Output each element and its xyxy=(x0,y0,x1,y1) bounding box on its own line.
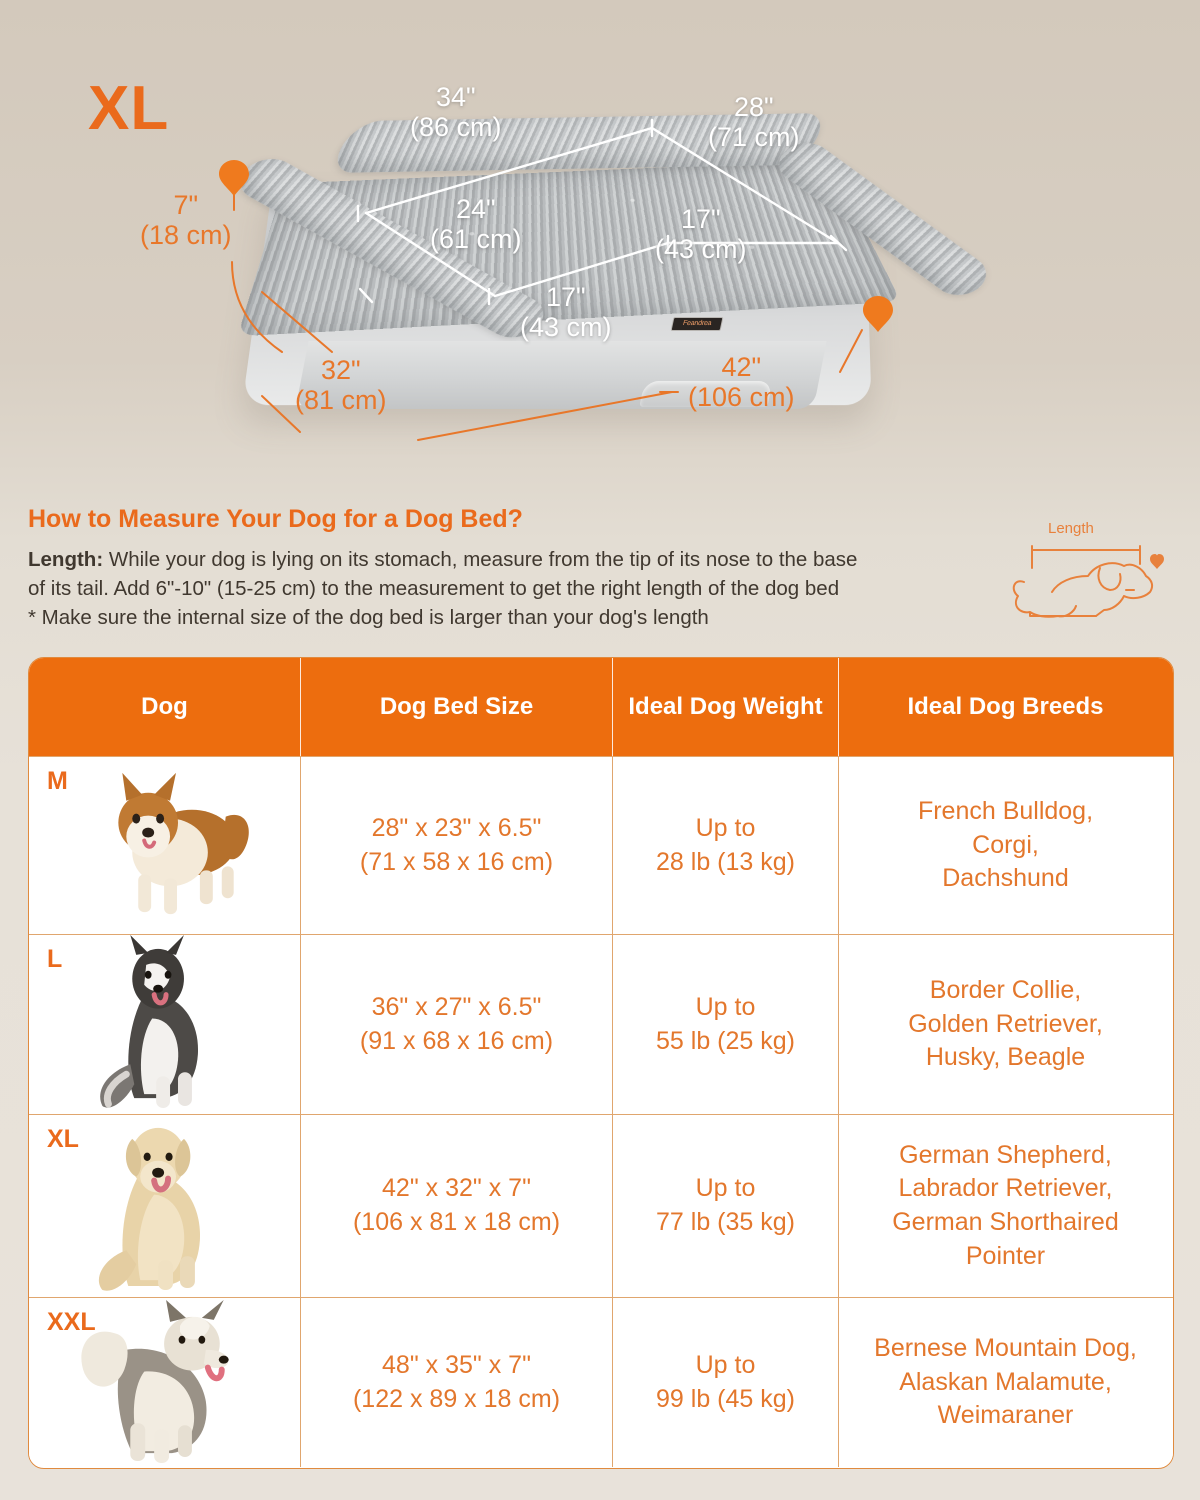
measure-heading: How to Measure Your Dog for a Dog Bed? xyxy=(28,505,978,534)
weight-line-1: Up to xyxy=(656,991,795,1025)
bed-size-cm: (122 x 89 x 18 cm) xyxy=(353,1383,560,1417)
table-header-weight: Ideal Dog Weight xyxy=(613,658,839,756)
table-row: XXL xyxy=(29,1297,1173,1467)
table-cell-weight: Up to 99 lb (45 kg) xyxy=(613,1298,839,1467)
bed-size-inches: 28" x 23" x 6.5" xyxy=(360,812,553,846)
dim-inner-depth: 17" (43 cm) xyxy=(655,204,747,264)
measure-section: How to Measure Your Dog for a Dog Bed? L… xyxy=(28,505,978,632)
breeds-text: German Shepherd, Labrador Retriever, Ger… xyxy=(886,1139,1125,1274)
hero-product-diagram: XL Feandrea xyxy=(0,0,1200,485)
table-cell-weight: Up to 77 lb (35 kg) xyxy=(613,1115,839,1297)
dim-height: 7" (18 cm) xyxy=(140,190,232,250)
weight-line-2: 28 lb (13 kg) xyxy=(656,846,795,880)
table-header-dog: Dog xyxy=(29,658,301,756)
bed-size-cm: (106 x 81 x 18 cm) xyxy=(353,1206,560,1240)
size-badge: XL xyxy=(88,78,169,140)
table-row: L xyxy=(29,934,1173,1114)
bed-size-inches: 36" x 27" x 6.5" xyxy=(360,991,553,1025)
malamute-photo xyxy=(74,1298,284,1467)
dim-inner-width: 24" (61 cm) xyxy=(430,194,522,254)
table-cell-dog: M xyxy=(29,757,301,934)
measure-length-label: Length: xyxy=(28,548,103,571)
table-cell-breeds: French Bulldog, Corgi, Dachshund xyxy=(839,757,1172,934)
table-row: XL xyxy=(29,1114,1173,1297)
table-header-size: Dog Bed Size xyxy=(301,658,613,756)
table-cell-bed-size: 42" x 32" x 7" (106 x 81 x 18 cm) xyxy=(301,1115,613,1297)
table-cell-breeds: Border Collie, Golden Retriever, Husky, … xyxy=(839,935,1172,1114)
dog-length-caption: Length xyxy=(1048,520,1094,537)
border-collie-photo xyxy=(74,935,284,1114)
table-cell-breeds: Bernese Mountain Dog, Alaskan Malamute, … xyxy=(839,1298,1172,1467)
size-chart-table: Dog Dog Bed Size Ideal Dog Weight Ideal … xyxy=(28,657,1174,1469)
dim-top-depth: 28" (71 cm) xyxy=(708,92,800,152)
heart-icon xyxy=(1150,554,1164,569)
table-cell-bed-size: 36" x 27" x 6.5" (91 x 68 x 16 cm) xyxy=(301,935,613,1114)
table-header-row: Dog Dog Bed Size Ideal Dog Weight Ideal … xyxy=(29,658,1173,756)
measure-line-1: While your dog is lying on its stomach, … xyxy=(103,548,857,571)
measure-paragraph: Length: While your dog is lying on its s… xyxy=(28,545,978,632)
labrador-photo xyxy=(74,1115,284,1297)
breeds-text: Bernese Mountain Dog, Alaskan Malamute, … xyxy=(868,1332,1143,1433)
table-cell-breeds: German Shepherd, Labrador Retriever, Ger… xyxy=(839,1115,1172,1297)
weight-line-2: 77 lb (35 kg) xyxy=(656,1206,795,1240)
row-size-label: M xyxy=(47,767,68,796)
table-cell-dog: L xyxy=(29,935,301,1114)
row-size-label: L xyxy=(47,945,62,974)
table-cell-dog: XXL xyxy=(29,1298,301,1467)
measure-line-3: * Make sure the internal size of the dog… xyxy=(28,606,709,629)
lying-dog-icon xyxy=(1000,520,1170,635)
brand-tag: Feandrea xyxy=(671,317,724,331)
dog-length-diagram-icon: Length xyxy=(1000,520,1170,635)
weight-line-2: 55 lb (25 kg) xyxy=(656,1025,795,1059)
table-header-breeds: Ideal Dog Breeds xyxy=(839,658,1172,756)
weight-line-1: Up to xyxy=(656,812,795,846)
breeds-text: Border Collie, Golden Retriever, Husky, … xyxy=(902,974,1109,1075)
measure-line-2: of its tail. Add 6"-10" (15-25 cm) to th… xyxy=(28,577,839,600)
bed-size-inches: 48" x 35" x 7" xyxy=(353,1349,560,1383)
table-cell-bed-size: 48" x 35" x 7" (122 x 89 x 18 cm) xyxy=(301,1298,613,1467)
table-cell-bed-size: 28" x 23" x 6.5" (71 x 58 x 16 cm) xyxy=(301,757,613,934)
dim-inner-front: 17" (43 cm) xyxy=(520,282,612,342)
weight-line-1: Up to xyxy=(656,1349,795,1383)
weight-line-2: 99 lb (45 kg) xyxy=(656,1383,795,1417)
weight-line-1: Up to xyxy=(656,1172,795,1206)
corgi-photo xyxy=(74,757,284,934)
bed-size-cm: (71 x 58 x 16 cm) xyxy=(360,846,553,880)
table-cell-dog: XL xyxy=(29,1115,301,1297)
breeds-text: French Bulldog, Corgi, Dachshund xyxy=(912,795,1099,896)
bed-size-cm: (91 x 68 x 16 cm) xyxy=(360,1025,553,1059)
bed-size-inches: 42" x 32" x 7" xyxy=(353,1172,560,1206)
table-cell-weight: Up to 28 lb (13 kg) xyxy=(613,757,839,934)
dim-top-width: 34" (86 cm) xyxy=(410,82,502,142)
table-cell-weight: Up to 55 lb (25 kg) xyxy=(613,935,839,1114)
dim-outer-depth: 32" (81 cm) xyxy=(295,355,387,415)
table-row: M xyxy=(29,756,1173,934)
dim-outer-width: 42" (106 cm) xyxy=(688,352,795,412)
